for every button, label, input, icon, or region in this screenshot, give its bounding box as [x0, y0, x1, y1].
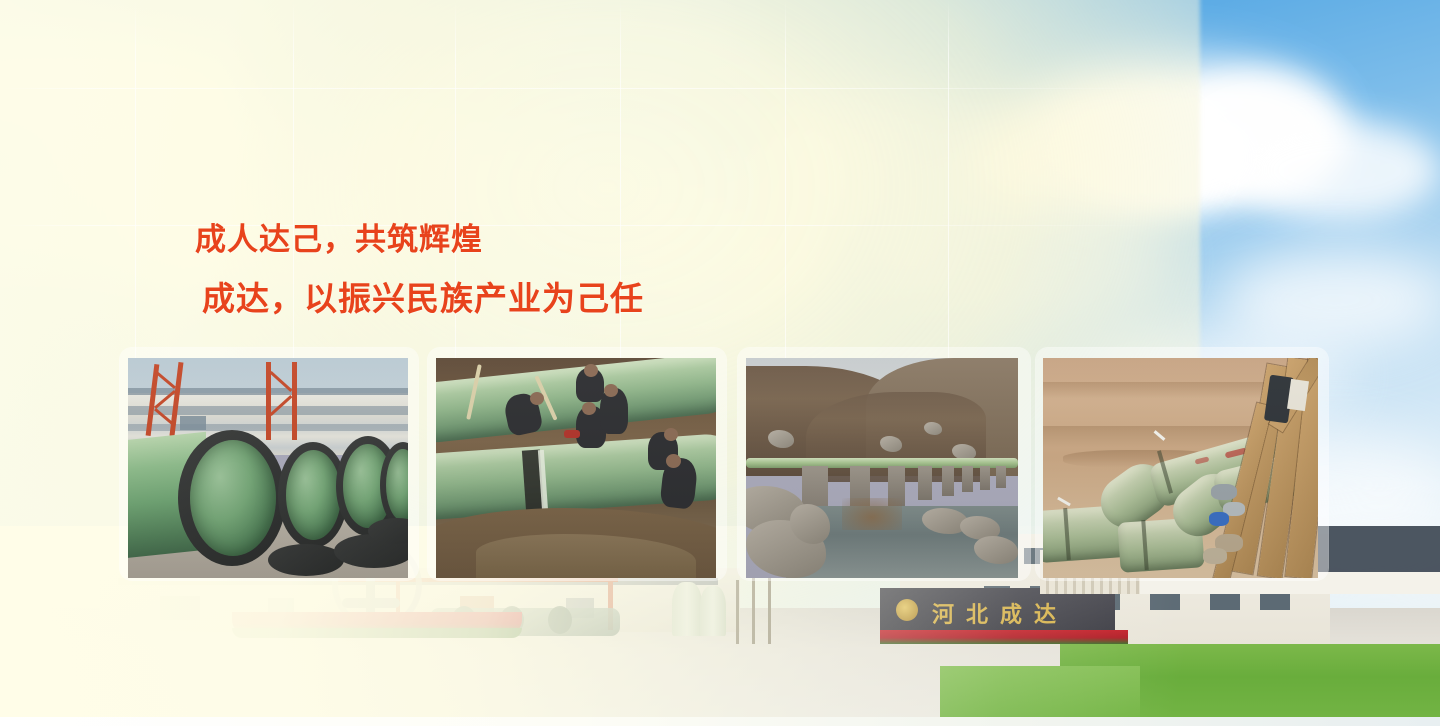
headline-line-2: 成达，以振兴民族产业为己任 [202, 282, 915, 315]
thumbnail-image-4[interactable] [1043, 358, 1318, 578]
thumbnail-image-1[interactable] [128, 358, 408, 578]
hero-banner: 河北成达 成人达己，共筑辉煌 成达，以振兴民族产业为己任 [0, 0, 1440, 726]
thumbnail-gallery [0, 0, 1440, 726]
thumbnail-image-2[interactable] [436, 358, 716, 578]
thumbnail-image-3[interactable] [746, 358, 1018, 578]
headline-block: 成人达己，共筑辉煌 成达，以振兴民族产业为己任 [195, 224, 915, 315]
headline-line-1: 成人达己，共筑辉煌 [195, 224, 915, 255]
